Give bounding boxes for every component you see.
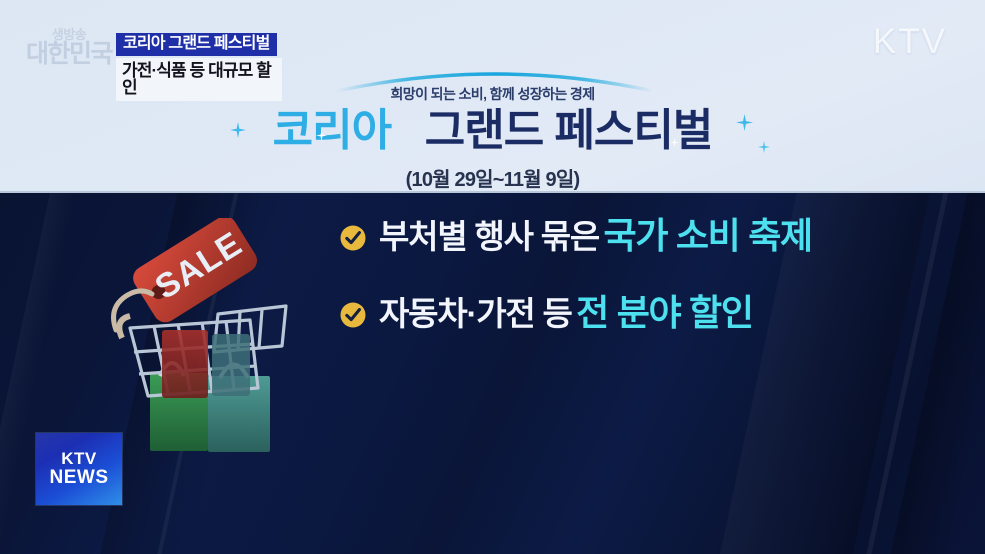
sparkle-icon	[230, 122, 246, 138]
sparkle-icon	[670, 138, 679, 147]
list-item-line1: 자동차·가전 등	[379, 295, 572, 332]
sparkle-icon	[316, 130, 327, 141]
sparkle-icon	[736, 114, 753, 131]
ktv-news-logo: KTV NEWS	[36, 433, 122, 505]
page-title-part2: 그랜드 페스티벌	[425, 106, 713, 155]
list-item-line2: 국가 소비 축제	[604, 215, 812, 256]
shopping-cart-illustration: SALE	[100, 218, 330, 468]
list-item-line2: 전 분야 할인	[576, 292, 753, 333]
check-circle-icon	[340, 302, 366, 333]
ktv-news-logo-line2: NEWS	[50, 468, 109, 488]
list-item-text: 자동차·가전 등 전 분야 할인	[379, 292, 753, 334]
list-item-line1: 부처별 행사 묶은	[379, 218, 599, 255]
caption-headline: 코리아 그랜드 페스티벌	[116, 33, 277, 56]
watermark-program-label: 대한민국	[26, 42, 112, 67]
list-item: 자동차·가전 등 전 분야 할인	[340, 292, 812, 334]
content-panel: SALE KTV NEWS 부처별 행사 묶은	[0, 193, 985, 554]
list-item: 부처별 행사 묶은 국가 소비 축제	[340, 215, 812, 257]
check-circle-icon	[340, 225, 366, 256]
page-title: 코리아 그랜드 페스티벌	[0, 108, 985, 154]
channel-logo-ktv: KTV	[873, 22, 947, 62]
list-item-text: 부처별 행사 묶은 국가 소비 축제	[379, 215, 812, 257]
page-title-part1: 코리아	[273, 106, 391, 155]
broadcast-frame: 생방송 대한민국 코리아 그랜드 페스티벌 가전·식품 등 대규모 할인 KTV	[0, 0, 985, 554]
sparkle-icon	[758, 141, 770, 153]
header-graphic-panel: 생방송 대한민국 코리아 그랜드 페스티벌 가전·식품 등 대규모 할인 KTV	[0, 0, 985, 193]
header-tagline: 희망이 되는 소비, 함께 성장하는 경제	[0, 84, 985, 104]
ktv-news-logo-line1: KTV	[61, 450, 97, 468]
event-date-range: (10월 29일~11월 9일)	[0, 163, 985, 192]
bullet-list: 부처별 행사 묶은 국가 소비 축제 자동차·가전 등 전 분야 할인	[340, 215, 812, 335]
broadcast-watermark: 생방송 대한민국	[26, 28, 112, 67]
